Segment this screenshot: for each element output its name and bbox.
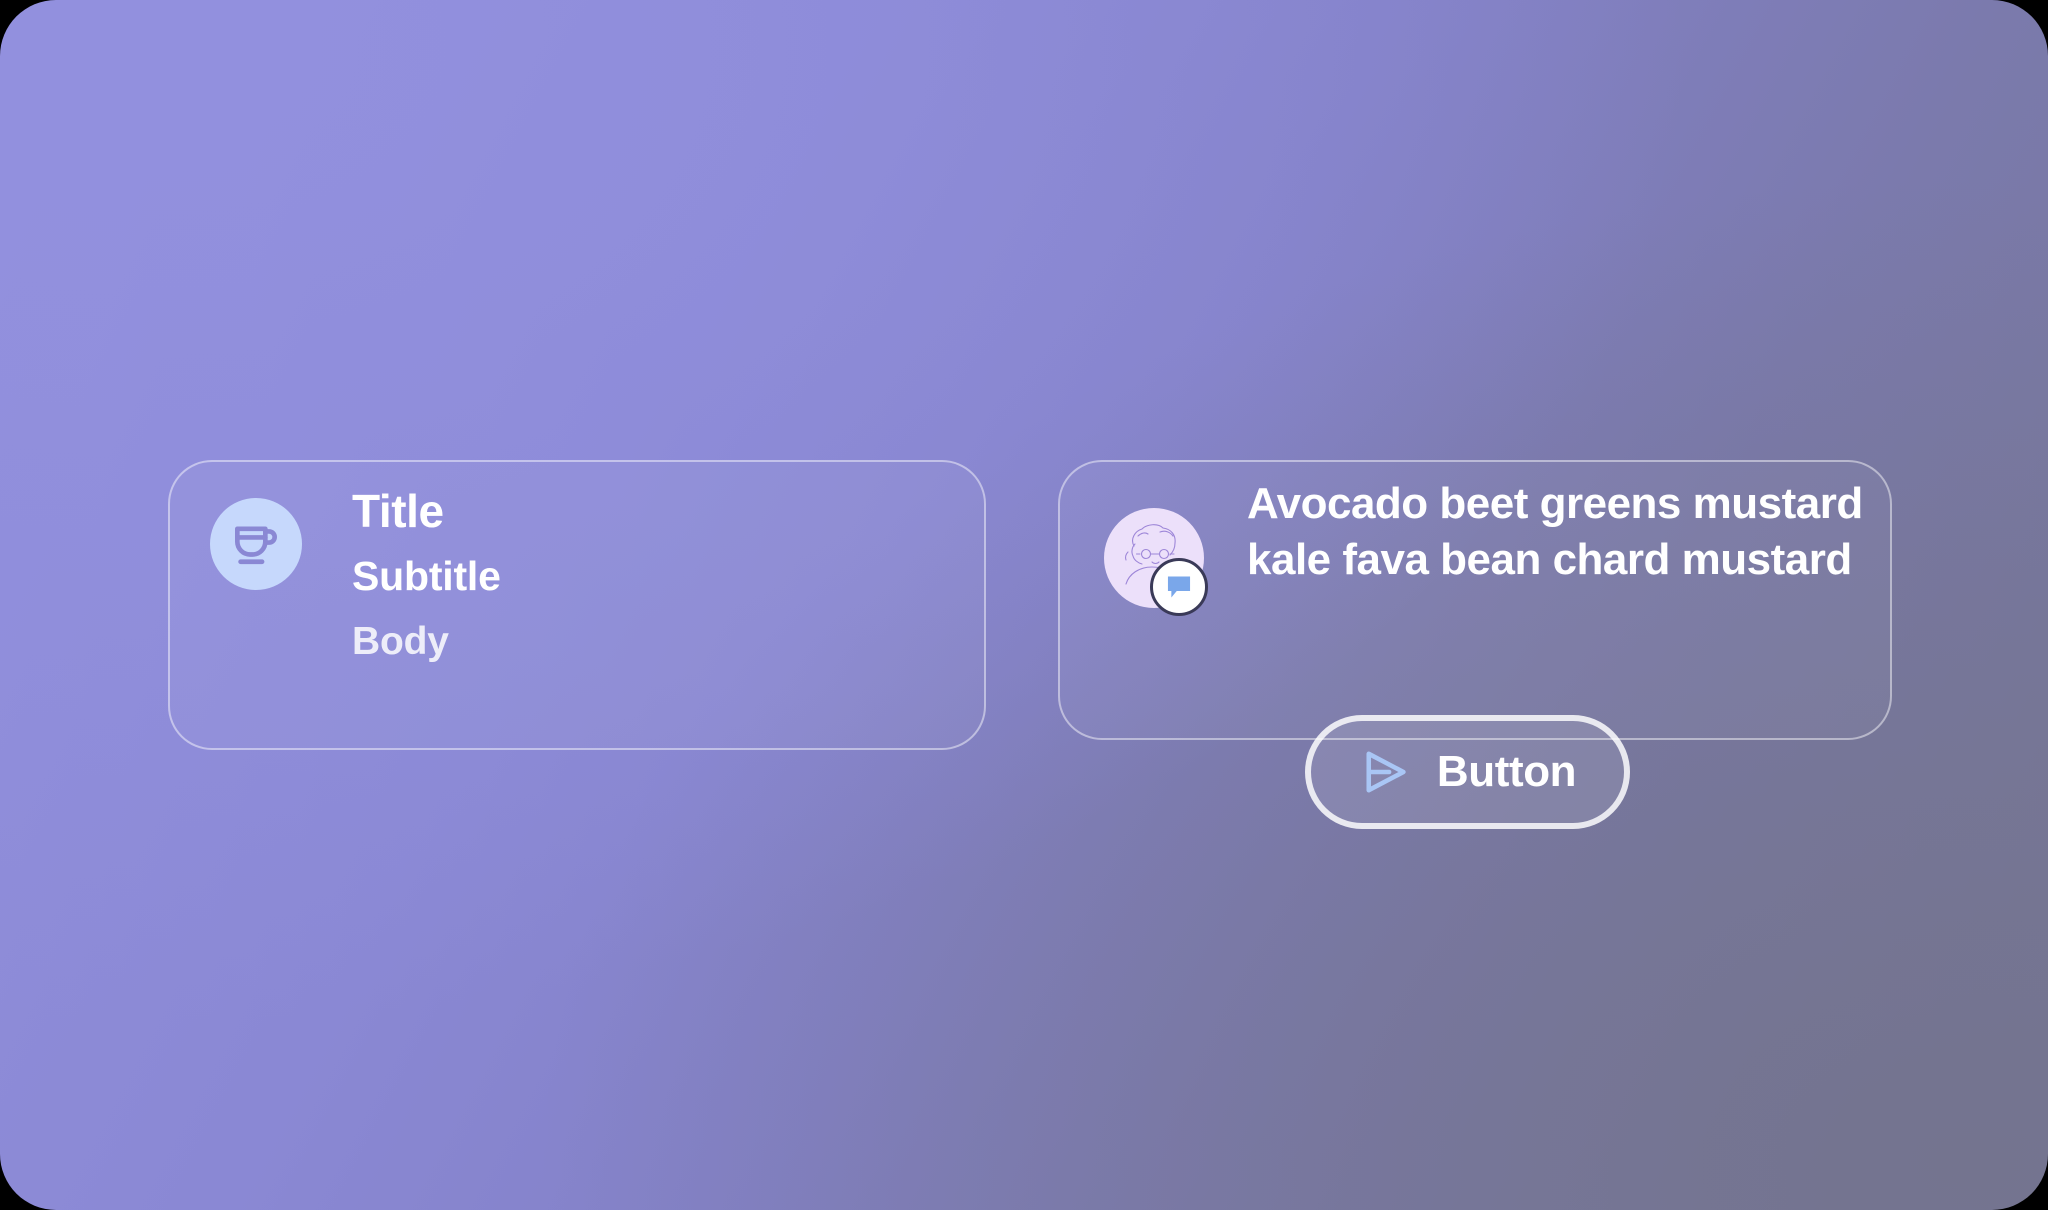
left-card[interactable]: Title Subtitle Body — [168, 460, 986, 750]
card-subtitle: Subtitle — [352, 552, 948, 601]
send-button-label: Button — [1437, 747, 1576, 797]
coffee-cup-glyph — [228, 516, 284, 572]
avatar — [1104, 508, 1204, 608]
left-card-text-stack: Title Subtitle Body — [352, 484, 948, 666]
right-card-text: Avocado beet greens mustard kale fava be… — [1247, 476, 1864, 589]
chat-bubble-glyph — [1162, 570, 1196, 604]
send-button[interactable]: Button — [1305, 715, 1630, 829]
coffee-cup-icon — [210, 498, 302, 590]
chat-bubble-icon — [1150, 558, 1208, 616]
send-icon — [1359, 746, 1411, 798]
card-body: Body — [352, 619, 948, 666]
right-card[interactable]: Avocado beet greens mustard kale fava be… — [1058, 460, 1892, 740]
app-canvas: Title Subtitle Body — [0, 0, 2048, 1210]
card-title: Title — [352, 484, 948, 538]
